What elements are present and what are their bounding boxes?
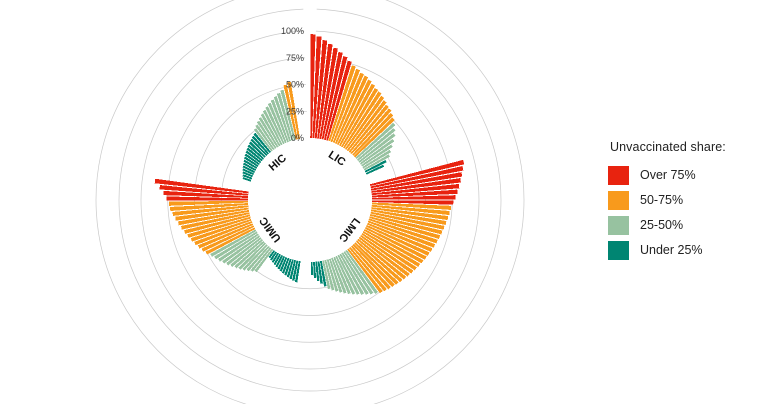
legend-label-over-75: Over 75% (640, 169, 696, 182)
legend-item-under-25[interactable]: Under 25% (608, 239, 770, 261)
radial-tick-50: 50% (286, 80, 304, 90)
legend-swatch-over-75 (608, 166, 629, 185)
legend-label-under-25: Under 25% (640, 244, 703, 257)
legend-label-50-75: 50-75% (640, 194, 683, 207)
radial-tick-0: 0% (291, 133, 304, 143)
radial-tick-25: 25% (286, 106, 304, 116)
category-label-lic: LIC (326, 149, 347, 169)
legend-title: Unvaccinated share: (610, 140, 770, 154)
chart-page: LICLMICUMICHIC0%25%50%75%100% Unvaccinat… (0, 0, 770, 404)
legend-swatch-50-75 (608, 191, 629, 210)
legend-item-50-75[interactable]: 50-75% (608, 189, 770, 211)
legend-swatch-25-50 (608, 216, 629, 235)
category-label-hic: HIC (267, 152, 289, 174)
polar-bar-chart: LICLMICUMICHIC0%25%50%75%100% (0, 0, 600, 404)
radial-gridlines (96, 0, 524, 404)
legend-swatch-under-25 (608, 241, 629, 260)
legend-item-25-50[interactable]: 25-50% (608, 214, 770, 236)
polar-chart-svg: LICLMICUMICHIC0%25%50%75%100% (0, 0, 600, 404)
bars (155, 34, 464, 295)
bar-lmic-48 (311, 262, 313, 275)
radial-tick-75: 75% (286, 53, 304, 63)
legend-item-over-75[interactable]: Over 75% (608, 164, 770, 186)
grid-arc-5 (96, 0, 524, 404)
radial-tick-100: 100% (281, 26, 304, 36)
legend-label-25-50: 25-50% (640, 219, 683, 232)
chart-legend: Unvaccinated share: Over 75%50-75%25-50%… (608, 140, 770, 264)
category-labels: LICLMICUMICHIC (257, 149, 362, 244)
legend-items: Over 75%50-75%25-50%Under 25% (608, 164, 770, 261)
